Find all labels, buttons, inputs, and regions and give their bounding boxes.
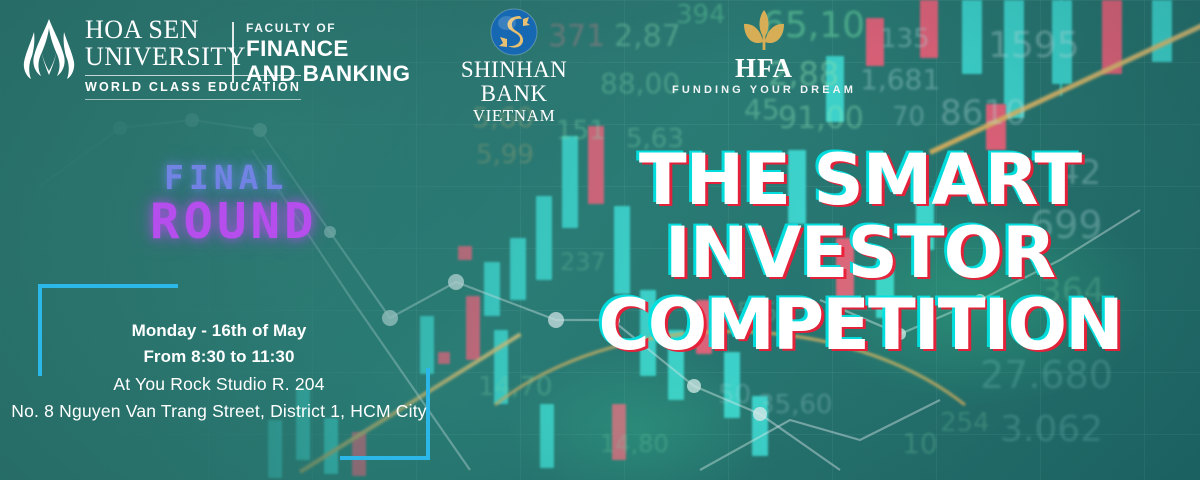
- logo-hfa: HFA FUNDING YOUR DREAM: [640, 8, 888, 96]
- hfa-tagline: FUNDING YOUR DREAM: [640, 84, 888, 96]
- title-line-2: INVESTOR: [560, 219, 1160, 288]
- bracket-line-horizontal: [38, 284, 178, 288]
- bracket-line-horizontal: [340, 456, 430, 460]
- event-address: No. 8 Nguyen Van Trang Street, District …: [0, 398, 438, 426]
- hsu-divider-bottom: [85, 99, 301, 100]
- logo-shinhan-bank: SHINHAN BANK VIETNAM: [428, 8, 600, 127]
- faculty-line2: AND BANKING: [246, 61, 410, 86]
- event-time: From 8:30 to 11:30: [0, 344, 438, 370]
- final-round-line1: FINAL: [164, 158, 318, 197]
- shinhan-globe-icon: [490, 8, 538, 56]
- shinhan-country: VIETNAM: [428, 106, 600, 126]
- event-banner: 65,1039413515953712,872,881,68188,004591…: [0, 0, 1200, 480]
- faculty-line1: FINANCE: [246, 36, 410, 61]
- event-details: Monday - 16th of May From 8:30 to 11:30 …: [0, 318, 438, 426]
- event-venue: At You Rock Studio R. 204: [0, 371, 438, 399]
- final-round-badge: FINAL ROUND: [150, 158, 318, 250]
- gold-leaf-icon: [736, 8, 792, 56]
- title-line-1: THE SMART: [560, 146, 1160, 215]
- lotus-flame-icon: [22, 18, 76, 80]
- logo-faculty-finance-banking: FACULTY OF FINANCE AND BANKING: [232, 20, 410, 87]
- faculty-eyebrow: FACULTY OF: [246, 20, 410, 36]
- sponsor-logo-row: HOA SEN UNIVERSITY WORLD CLASS EDUCATION…: [0, 0, 1200, 112]
- page-title: THE SMART INVESTOR COMPETITION: [560, 146, 1160, 360]
- final-round-line2: ROUND: [150, 193, 318, 250]
- hfa-name: HFA: [640, 54, 888, 82]
- title-line-3: COMPETITION: [560, 291, 1160, 360]
- event-date: Monday - 16th of May: [0, 318, 438, 344]
- shinhan-name: SHINHAN BANK: [428, 58, 600, 106]
